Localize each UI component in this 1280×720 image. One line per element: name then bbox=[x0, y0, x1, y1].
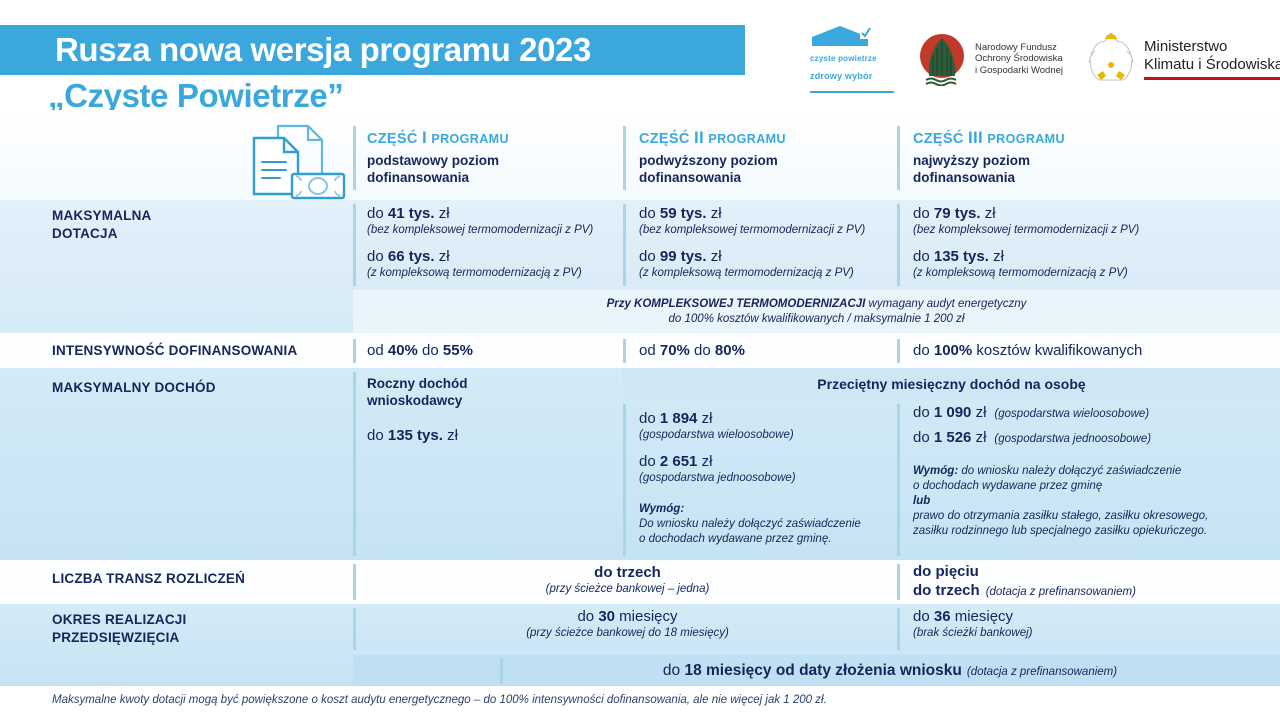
grant-cell-column-2: do 59 tys. zł (bez kompleksowej termomod… bbox=[639, 204, 894, 281]
row-label-intensity: INTENSYWNOŚĆ DOFINANSOWANIA bbox=[52, 342, 297, 360]
duration-c12-pre: do bbox=[577, 608, 598, 625]
ministry-logo-line1: Ministerstwo bbox=[1144, 38, 1280, 56]
nfosigw-emblem-icon bbox=[916, 32, 968, 86]
duration-span-pre: do bbox=[663, 662, 685, 679]
nfosigw-logo-text: Narodowy Fundusz Ochrony Środowiska i Go… bbox=[975, 42, 1063, 77]
tranches-c3-value-2: do trzech bbox=[913, 582, 980, 599]
income-c2-amount-2: do 2 651 zł bbox=[639, 452, 884, 471]
income-c2-amount-1: do 1 894 zł bbox=[639, 409, 884, 428]
column-2-kicker-word: CZĘŚĆ bbox=[639, 131, 690, 147]
income-c2-req-label: Wymóg: bbox=[639, 503, 684, 515]
intensity-c3-pre: do bbox=[913, 342, 934, 359]
infographic-page: Rusza nowa wersja programu 2023 „Czyste … bbox=[0, 0, 1280, 720]
grant-c1-note-1: (bez kompleksowej termomodernizacji z PV… bbox=[367, 223, 617, 238]
income-c1-heading: Roczny dochód wnioskodawcy bbox=[367, 375, 612, 409]
grant-c1-a1-post: zł bbox=[439, 205, 450, 222]
duration-cell-columns-1-2: do 30 miesięcy (przy ścieżce bankowej do… bbox=[360, 607, 895, 641]
clean-air-logo: czyste powietrze zdrowy wybór bbox=[810, 25, 894, 93]
row-label-income: MAKSYMALNY DOCHÓD bbox=[52, 379, 216, 397]
column-1-kicker: CZĘŚĆ I PROGRAMU bbox=[367, 128, 617, 149]
grant-c2-amount-1: do 59 tys. zł bbox=[639, 204, 894, 223]
audit-note-line1: Przy KOMPLEKSOWEJ TERMOMODERNIZACJI wyma… bbox=[353, 297, 1280, 312]
column-1-kicker-tail: PROGRAMU bbox=[431, 132, 509, 146]
audit-requirement-note: Przy KOMPLEKSOWEJ TERMOMODERNIZACJI wyma… bbox=[353, 297, 1280, 327]
income-c3-a2-num: 1 526 bbox=[934, 429, 976, 446]
income-c1-amt-pre: do bbox=[367, 427, 388, 444]
income-c3-req-or: lub bbox=[913, 494, 1243, 509]
intensity-c1-b: 55% bbox=[443, 342, 473, 359]
duration-span-text: do 18 miesięcy od daty złożenia wniosku bbox=[663, 662, 962, 679]
tranches-c3-value-2-line: do trzech(dotacja z prefinansowaniem) bbox=[913, 581, 1243, 600]
column-1-kicker-word: CZĘŚĆ bbox=[367, 131, 418, 147]
row-label-duration: OKRES REALIZACJI PRZEDSIĘWZIĘCIA bbox=[52, 611, 186, 647]
column-3-subtitle: najwyższy poziom dofinansowania bbox=[913, 152, 1193, 186]
column-header-3: CZĘŚĆ III PROGRAMU najwyższy poziom dofi… bbox=[913, 128, 1193, 186]
income-c2-note-2: (gospodarstwa jednoosobowe) bbox=[639, 471, 884, 486]
intensity-cell-column-2: od 70% do 80% bbox=[639, 341, 745, 360]
column-1-subtitle: podstawowy poziom dofinansowania bbox=[367, 152, 617, 186]
grant-c3-a1-pre: do bbox=[913, 205, 934, 222]
income-c2-note-1: (gospodarstwa wieloosobowe) bbox=[639, 428, 884, 443]
duration-c12-num: 30 bbox=[598, 608, 615, 625]
column-divider-1-intensity bbox=[353, 339, 356, 363]
intensity-c3-a: 100% bbox=[934, 342, 972, 359]
column-3-kicker-word: CZĘŚĆ bbox=[913, 131, 964, 147]
nfosigw-logo-line2: Ochrony Środowiska bbox=[975, 53, 1063, 65]
grant-c3-a2-num: 135 tys. bbox=[934, 248, 993, 265]
page-title-line1: Rusza nowa wersja programu 2023 bbox=[55, 27, 755, 73]
income-c3-req-text-3: prawo do otrzymania zasiłku stałego, zas… bbox=[913, 509, 1243, 524]
grant-c3-a2-pre: do bbox=[913, 248, 934, 265]
column-2-numeral: II bbox=[694, 128, 704, 147]
duration-span-post: miesięcy od daty złożenia wniosku bbox=[702, 662, 962, 679]
income-c2-a1-pre: do bbox=[639, 410, 660, 427]
column-2-kicker: CZĘŚĆ II PROGRAMU bbox=[639, 128, 889, 149]
grant-c1-a2-num: 66 tys. bbox=[388, 248, 439, 265]
income-c2-a1-post: zł bbox=[702, 410, 713, 427]
intensity-c2-pre: od bbox=[639, 342, 660, 359]
income-c2-a1-num: 1 894 bbox=[660, 410, 702, 427]
grant-c3-a1-post: zł bbox=[985, 205, 996, 222]
income-cell-column-3: do 1 090 zł(gospodarstwa wieloosobowe) d… bbox=[913, 403, 1243, 539]
grant-c3-a2-post: zł bbox=[993, 248, 1004, 265]
duration-span-num: 18 bbox=[684, 662, 701, 679]
nfosigw-logo-line1: Narodowy Fundusz bbox=[975, 42, 1063, 54]
grant-c1-a1-pre: do bbox=[367, 205, 388, 222]
column-2-subtitle: podwyższony poziom dofinansowania bbox=[639, 152, 889, 186]
tranches-c3-value-1: do pięciu bbox=[913, 562, 1243, 581]
income-c3-amount-2: do 1 526 zł(gospodarstwa jednoosobowe) bbox=[913, 428, 1243, 447]
income-cell-column-1: Roczny dochód wnioskodawcy do 135 tys. z… bbox=[367, 375, 612, 445]
row-label-grant: MAKSYMALNA DOTACJA bbox=[52, 207, 152, 243]
document-money-icon bbox=[240, 122, 350, 202]
income-c3-req-text-2: o dochodach wydawane przez gminę bbox=[913, 479, 1243, 494]
clean-air-logo-line1: czyste powietrze bbox=[810, 54, 877, 64]
grant-c2-note-1: (bez kompleksowej termomodernizacji z PV… bbox=[639, 223, 894, 238]
tranches-cell-column-3: do pięciu do trzech(dotacja z prefinanso… bbox=[913, 562, 1243, 600]
intensity-cell-column-3: do 100% kosztów kwalifikowanych bbox=[913, 341, 1142, 360]
duration-c12-post: miesięcy bbox=[615, 608, 678, 625]
column-2-kicker-tail: PROGRAMU bbox=[708, 132, 786, 146]
duration-c3-note: (brak ścieżki bankowej) bbox=[913, 626, 1243, 641]
intensity-c2-mid: do bbox=[690, 342, 715, 359]
grant-c2-amount-2: do 99 tys. zł bbox=[639, 247, 894, 266]
income-c2-req-text-1: Do wniosku należy dołączyć zaświadczenie bbox=[639, 517, 884, 532]
intensity-c1-mid: do bbox=[418, 342, 443, 359]
audit-note-rest: wymagany audyt energetyczny bbox=[865, 298, 1026, 310]
income-c1-amt-post: zł bbox=[447, 427, 458, 444]
grant-c1-a2-pre: do bbox=[367, 248, 388, 265]
column-divider-1-grant bbox=[353, 204, 356, 286]
income-c3-a1-post: zł bbox=[976, 404, 987, 421]
income-c3-a1-pre: do bbox=[913, 404, 934, 421]
column-divider-3-tranches bbox=[897, 564, 900, 600]
polish-eagle-icon bbox=[1085, 31, 1137, 87]
column-divider-1-income bbox=[353, 372, 356, 556]
duration-c3-post: miesięcy bbox=[951, 608, 1014, 625]
duration-span-value: do 18 miesięcy od daty złożenia wniosku(… bbox=[500, 661, 1280, 680]
intensity-c1-pre: od bbox=[367, 342, 388, 359]
column-divider-3-intensity bbox=[897, 339, 900, 363]
column-divider-2-income bbox=[623, 404, 626, 556]
column-divider-1-duration bbox=[353, 608, 356, 650]
column-divider-3-income bbox=[897, 404, 900, 556]
column-divider-1-tranches bbox=[353, 564, 356, 600]
grant-c1-note-2: (z kompleksową termomodernizacją z PV) bbox=[367, 266, 617, 281]
column-header-1: CZĘŚĆ I PROGRAMU podstawowy poziom dofin… bbox=[367, 128, 617, 186]
tranches-c12-value: do trzech bbox=[360, 563, 895, 582]
tranches-c12-note: (przy ścieżce bankowej – jedna) bbox=[360, 582, 895, 597]
income-c2-req-text-2: o dochodach wydawane przez gminę. bbox=[639, 532, 884, 547]
nfosigw-logo: Narodowy Fundusz Ochrony Środowiska i Go… bbox=[916, 32, 1063, 86]
column-divider-3 bbox=[897, 126, 900, 190]
grant-c2-note-2: (z kompleksową termomodernizacją z PV) bbox=[639, 266, 894, 281]
income-c1-amt-num: 135 tys. bbox=[388, 427, 447, 444]
income-c3-req-text-1: do wniosku należy dołączyć zaświadczenie bbox=[958, 465, 1181, 477]
grant-c2-a2-pre: do bbox=[639, 248, 660, 265]
column-divider-2 bbox=[623, 126, 626, 190]
income-c3-note-2: (gospodarstwa jednoosobowe) bbox=[994, 433, 1151, 445]
column-3-kicker-tail: PROGRAMU bbox=[987, 132, 1065, 146]
intensity-c2-b: 80% bbox=[715, 342, 745, 359]
intensity-c2-a: 70% bbox=[660, 342, 690, 359]
grant-c3-amount-1: do 79 tys. zł bbox=[913, 204, 1183, 223]
grant-c3-amount-2: do 135 tys. zł bbox=[913, 247, 1183, 266]
logo-strip: czyste powietrze zdrowy wybór bbox=[810, 28, 1280, 90]
column-1-numeral: I bbox=[422, 128, 427, 147]
grant-c3-note-1: (bez kompleksowej termomodernizacji z PV… bbox=[913, 223, 1183, 238]
income-c3-amount-1: do 1 090 zł(gospodarstwa wieloosobowe) bbox=[913, 403, 1243, 422]
duration-c3-value: do 36 miesięcy bbox=[913, 607, 1243, 626]
row-label-tranches: LICZBA TRANSZ ROZLICZEŃ bbox=[52, 570, 245, 588]
column-divider-2-grant bbox=[623, 204, 626, 286]
tranches-c3-note-2: (dotacja z prefinansowaniem) bbox=[986, 586, 1136, 598]
column-divider-3-duration bbox=[897, 608, 900, 650]
grant-c1-a2-post: zł bbox=[439, 248, 450, 265]
income-c3-note-1: (gospodarstwa wieloosobowe) bbox=[994, 408, 1149, 420]
column-divider-3-grant bbox=[897, 204, 900, 286]
clean-air-logo-rule bbox=[810, 91, 894, 93]
income-c2-a2-pre: do bbox=[639, 453, 660, 470]
intensity-cell-column-1: od 40% do 55% bbox=[367, 341, 473, 360]
grant-c3-note-2: (z kompleksową termomodernizacją z PV) bbox=[913, 266, 1183, 281]
footnote: Maksymalne kwoty dotacji mogą być powięk… bbox=[52, 693, 827, 708]
grant-cell-column-3: do 79 tys. zł (bez kompleksowej termomod… bbox=[913, 204, 1183, 281]
grant-cell-column-1: do 41 tys. zł (bez kompleksowej termomod… bbox=[367, 204, 617, 281]
duration-span-note: (dotacja z prefinansowaniem) bbox=[967, 666, 1117, 678]
ministry-logo-rule bbox=[1144, 77, 1280, 80]
ministry-logo: Ministerstwo Klimatu i Środowiska bbox=[1085, 31, 1280, 87]
grant-c2-a2-post: zł bbox=[711, 248, 722, 265]
column-divider-1 bbox=[353, 126, 356, 190]
grant-c1-a1-num: 41 tys. bbox=[388, 205, 439, 222]
ministry-logo-text: Ministerstwo Klimatu i Środowiska bbox=[1144, 38, 1280, 80]
income-shared-heading: Przeciętny miesięczny dochód na osobę bbox=[623, 375, 1280, 393]
intensity-c1-a: 40% bbox=[388, 342, 418, 359]
duration-c3-num: 36 bbox=[934, 608, 951, 625]
column-3-numeral: III bbox=[968, 128, 983, 147]
nfosigw-logo-line3: i Gospodarki Wodnej bbox=[975, 65, 1063, 77]
income-c2-a2-num: 2 651 bbox=[660, 453, 702, 470]
income-c3-a2-pre: do bbox=[913, 429, 934, 446]
tranches-cell-columns-1-2: do trzech (przy ścieżce bankowej – jedna… bbox=[360, 563, 895, 597]
clean-air-logo-line2: zdrowy wybór bbox=[810, 71, 872, 82]
header: Rusza nowa wersja programu 2023 „Czyste … bbox=[0, 0, 1280, 110]
duration-c12-note: (przy ścieżce bankowej do 18 miesięcy) bbox=[360, 626, 895, 641]
income-c3-req-text-4: zasiłku rodzinnego lub specjalnego zasił… bbox=[913, 524, 1243, 539]
grant-c3-a1-num: 79 tys. bbox=[934, 205, 985, 222]
audit-note-line2: do 100% kosztów kwalifikowanych / maksym… bbox=[353, 312, 1280, 327]
income-c3-req-label: Wymóg: bbox=[913, 465, 958, 477]
column-divider-2-intensity bbox=[623, 339, 626, 363]
grant-c2-a2-num: 99 tys. bbox=[660, 248, 711, 265]
grant-c1-amount-2: do 66 tys. zł bbox=[367, 247, 617, 266]
intensity-c3-tail: kosztów kwalifikowanych bbox=[972, 342, 1142, 359]
grant-c2-a1-num: 59 tys. bbox=[660, 205, 711, 222]
audit-note-bold: Przy KOMPLEKSOWEJ TERMOMODERNIZACJI bbox=[607, 298, 866, 310]
duration-cell-column-3: do 36 miesięcy (brak ścieżki bankowej) bbox=[913, 607, 1243, 641]
grant-c2-a1-pre: do bbox=[639, 205, 660, 222]
income-c2-a2-post: zł bbox=[702, 453, 713, 470]
house-roof-icon bbox=[810, 25, 888, 47]
column-header-2: CZĘŚĆ II PROGRAMU podwyższony poziom dof… bbox=[639, 128, 889, 186]
income-c1-amount: do 135 tys. zł bbox=[367, 426, 612, 445]
duration-c3-pre: do bbox=[913, 608, 934, 625]
income-c3-a2-post: zł bbox=[976, 429, 987, 446]
grant-c2-a1-post: zł bbox=[711, 205, 722, 222]
ministry-logo-line2: Klimatu i Środowiska bbox=[1144, 56, 1280, 74]
column-3-kicker: CZĘŚĆ III PROGRAMU bbox=[913, 128, 1193, 149]
income-c3-a1-num: 1 090 bbox=[934, 404, 976, 421]
duration-c12-value: do 30 miesięcy bbox=[360, 607, 895, 626]
income-c3-req-or-label: lub bbox=[913, 495, 930, 507]
grant-c1-amount-1: do 41 tys. zł bbox=[367, 204, 617, 223]
income-cell-column-2: do 1 894 zł (gospodarstwa wieloosobowe) … bbox=[639, 409, 884, 547]
